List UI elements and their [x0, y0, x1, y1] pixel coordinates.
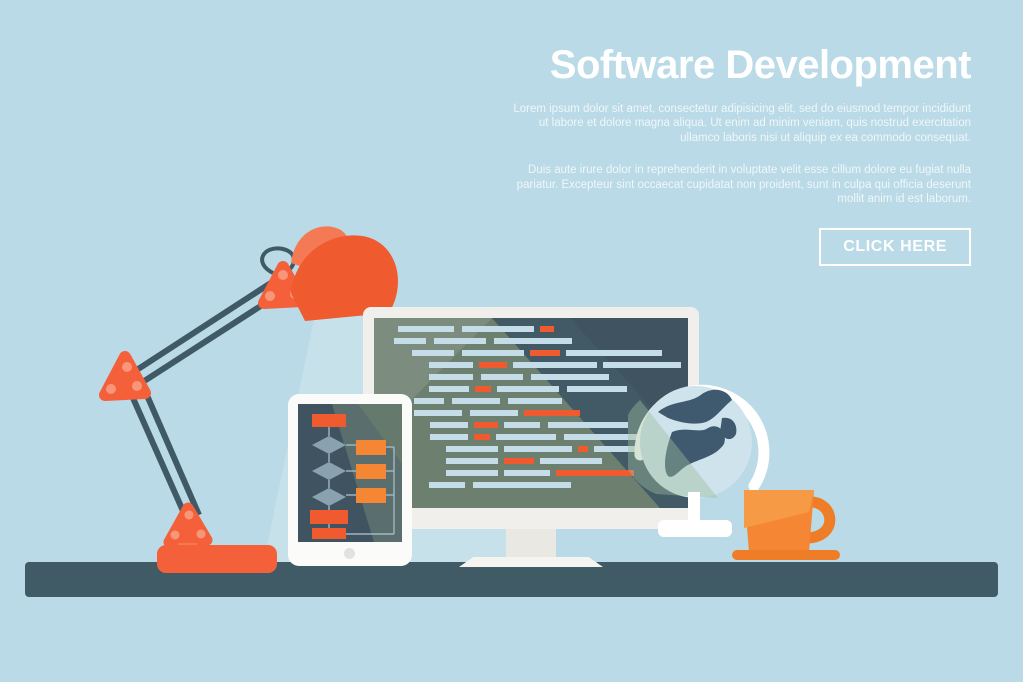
code-line	[374, 338, 688, 344]
code-token	[434, 338, 486, 344]
flowchart-process-node	[356, 488, 386, 503]
text-content-block: Software Development Lorem ipsum dolor s…	[511, 42, 971, 266]
code-token	[412, 350, 454, 356]
code-token-highlight	[530, 350, 560, 356]
monitor-base	[459, 557, 603, 567]
code-token-highlight	[475, 386, 491, 392]
code-token	[429, 362, 473, 368]
flowchart-process-node	[312, 414, 346, 427]
code-token	[531, 374, 609, 380]
code-token	[470, 410, 518, 416]
code-token	[504, 470, 550, 476]
lamp-mid-joint	[105, 357, 145, 395]
body-paragraph-2: Duis aute irure dolor in reprehenderit i…	[511, 163, 971, 206]
code-token-highlight	[504, 458, 534, 464]
code-token	[496, 434, 556, 440]
code-token-highlight	[479, 362, 507, 368]
code-token	[504, 446, 572, 452]
code-token-highlight	[578, 446, 588, 452]
code-token	[508, 398, 562, 404]
click-here-button[interactable]: CLICK HERE	[819, 228, 971, 266]
code-token	[497, 386, 559, 392]
code-token	[429, 482, 465, 488]
body-paragraph-1: Lorem ipsum dolor sit amet, consectetur …	[511, 102, 971, 145]
code-token	[548, 422, 628, 428]
flowchart-process-node	[356, 440, 386, 455]
code-token-highlight	[556, 470, 634, 476]
tablet-screen	[298, 404, 402, 542]
code-token	[452, 398, 500, 404]
code-line	[374, 326, 688, 332]
code-token	[429, 386, 469, 392]
coffee-cup	[730, 480, 850, 568]
code-token	[414, 398, 444, 404]
code-token	[462, 350, 524, 356]
code-token	[446, 458, 498, 464]
code-token	[567, 386, 627, 392]
code-token	[394, 338, 426, 344]
code-token	[430, 422, 468, 428]
cup-saucer	[732, 550, 840, 560]
globe-base	[658, 520, 732, 537]
lamp-base	[157, 545, 277, 573]
code-token	[513, 362, 597, 368]
tablet-device	[288, 394, 412, 566]
code-token-highlight	[524, 410, 580, 416]
tablet-flowchart	[298, 404, 402, 542]
code-token	[462, 326, 534, 332]
code-token	[446, 470, 498, 476]
illustration-stage: Software Development Lorem ipsum dolor s…	[0, 0, 1023, 682]
page-title: Software Development	[511, 42, 971, 88]
code-token	[430, 434, 468, 440]
code-token	[494, 338, 572, 344]
code-token-highlight	[540, 326, 554, 332]
code-token	[446, 446, 498, 452]
tablet-body	[288, 394, 412, 566]
code-token	[398, 326, 454, 332]
code-token	[566, 350, 662, 356]
code-token	[504, 422, 540, 428]
code-token-highlight	[474, 422, 498, 428]
code-token	[540, 458, 602, 464]
flowchart-process-node	[312, 528, 346, 539]
code-token	[429, 374, 473, 380]
code-line	[374, 350, 688, 356]
flowchart-process-node	[310, 510, 348, 524]
code-token-highlight	[474, 434, 490, 440]
code-token	[473, 482, 571, 488]
code-token	[414, 410, 462, 416]
flowchart-process-node	[356, 464, 386, 479]
cta-container: CLICK HERE	[511, 228, 971, 266]
code-token	[481, 374, 523, 380]
tablet-home-button[interactable]	[344, 548, 355, 559]
